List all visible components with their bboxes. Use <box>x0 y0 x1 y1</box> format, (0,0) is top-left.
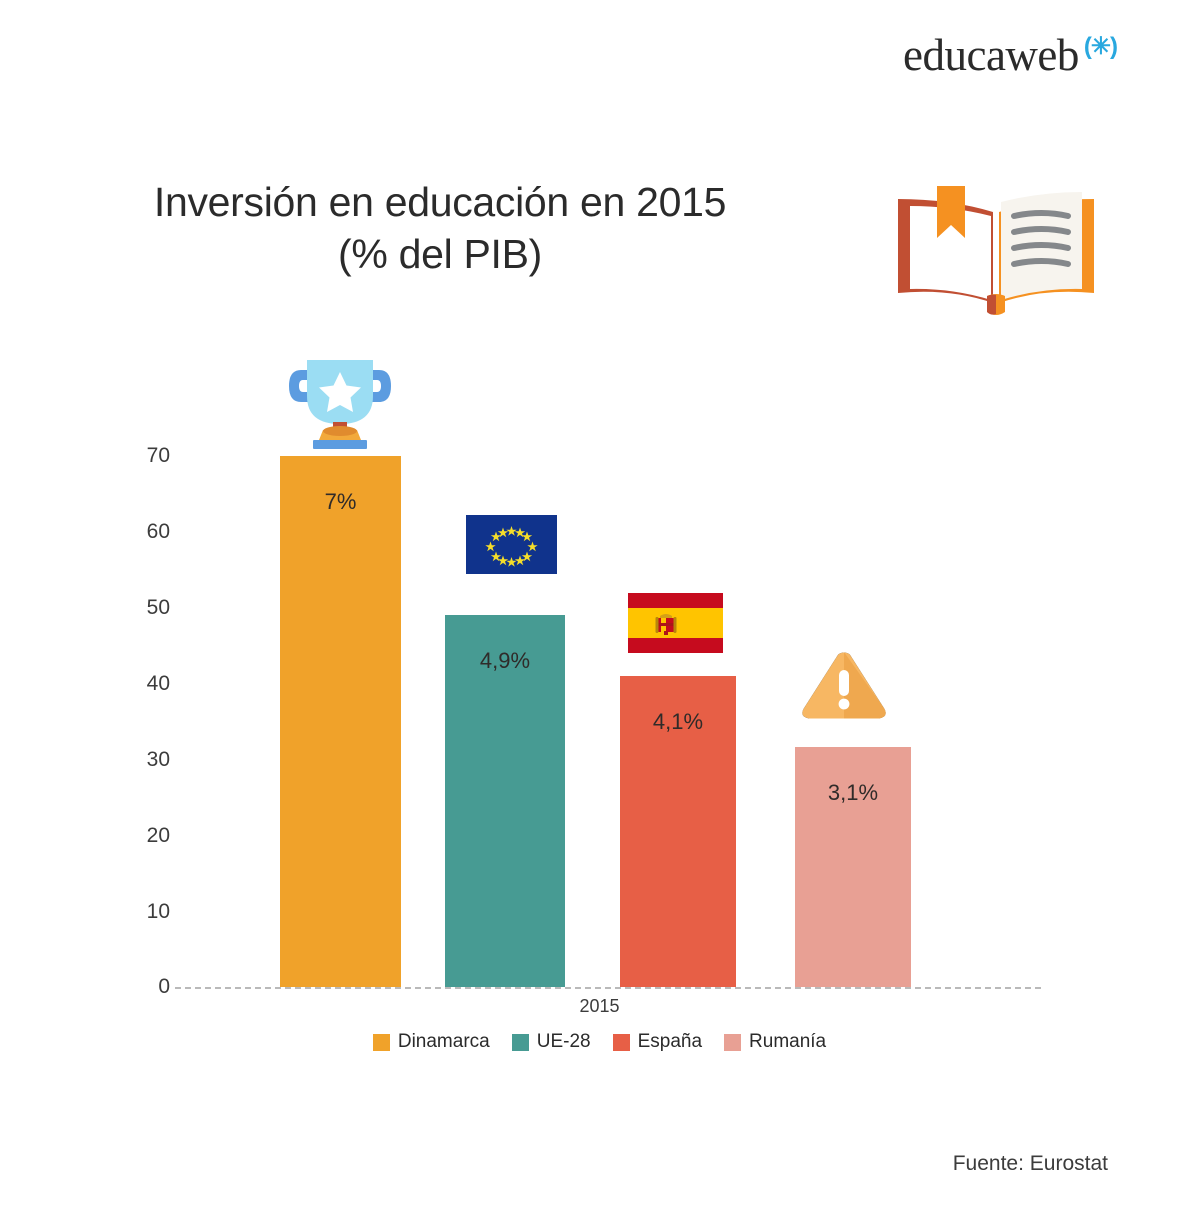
legend-swatch-icon <box>613 1034 630 1051</box>
bar-value-label: 4,1% <box>620 709 736 735</box>
bar-espana[interactable]: 4,1% <box>620 676 736 987</box>
legend-label: Dinamarca <box>398 1031 490 1053</box>
y-tick-label: 50 <box>120 596 170 620</box>
y-tick-label: 30 <box>120 748 170 772</box>
legend-label: UE-28 <box>537 1031 591 1053</box>
source-note: Fuente: Eurostat <box>953 1152 1108 1176</box>
legend-swatch-icon <box>373 1034 390 1051</box>
warning-icon <box>800 648 888 726</box>
bar-value-label: 7% <box>280 489 401 515</box>
bar-value-label: 4,9% <box>445 648 565 674</box>
bar-dinamarca[interactable]: 7% <box>280 456 401 987</box>
y-tick-label: 20 <box>120 824 170 848</box>
legend-item-rumania[interactable]: Rumanía <box>724 1031 826 1053</box>
legend-label: España <box>638 1031 702 1053</box>
legend-swatch-icon <box>512 1034 529 1051</box>
x-axis-category-label: 2015 <box>0 996 1199 1017</box>
legend-item-dinamarca[interactable]: Dinamarca <box>373 1031 490 1053</box>
chart-legend: Dinamarca UE-28 España Rumanía <box>0 1031 1199 1053</box>
y-tick-label: 60 <box>120 520 170 544</box>
bar-rumania[interactable]: 3,1% <box>795 747 911 987</box>
axis-baseline <box>175 987 1041 989</box>
y-tick-label: 70 <box>120 444 170 468</box>
y-tick-label: 10 <box>120 900 170 924</box>
legend-swatch-icon <box>724 1034 741 1051</box>
bar-value-label: 3,1% <box>795 780 911 806</box>
y-tick-label: 40 <box>120 672 170 696</box>
trophy-icon <box>285 348 395 452</box>
legend-item-ue28[interactable]: UE-28 <box>512 1031 591 1053</box>
spain-flag-icon <box>628 593 723 653</box>
legend-item-espana[interactable]: España <box>613 1031 702 1053</box>
eu-flag-icon <box>465 513 558 575</box>
legend-label: Rumanía <box>749 1031 826 1053</box>
bar-ue28[interactable]: 4,9% <box>445 615 565 987</box>
